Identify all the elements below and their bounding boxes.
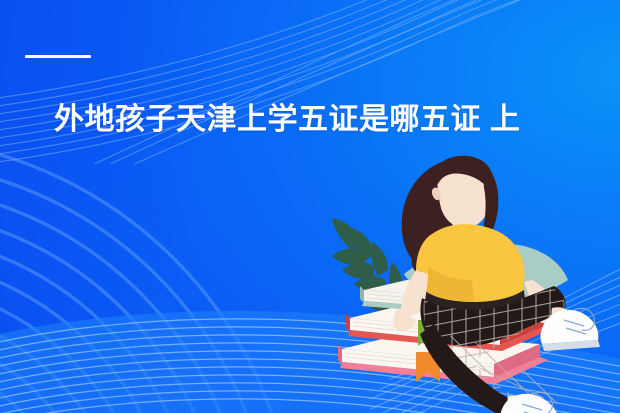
poster-canvas: 外地孩子天津上学五证是哪五证 上 xyxy=(0,0,620,413)
illustration-woman-on-books xyxy=(312,148,620,413)
shoe-front xyxy=(500,392,560,413)
page-title: 外地孩子天津上学五证是哪五证 上 xyxy=(54,100,574,140)
shirt xyxy=(416,224,525,312)
white-accent-rule xyxy=(25,55,91,58)
